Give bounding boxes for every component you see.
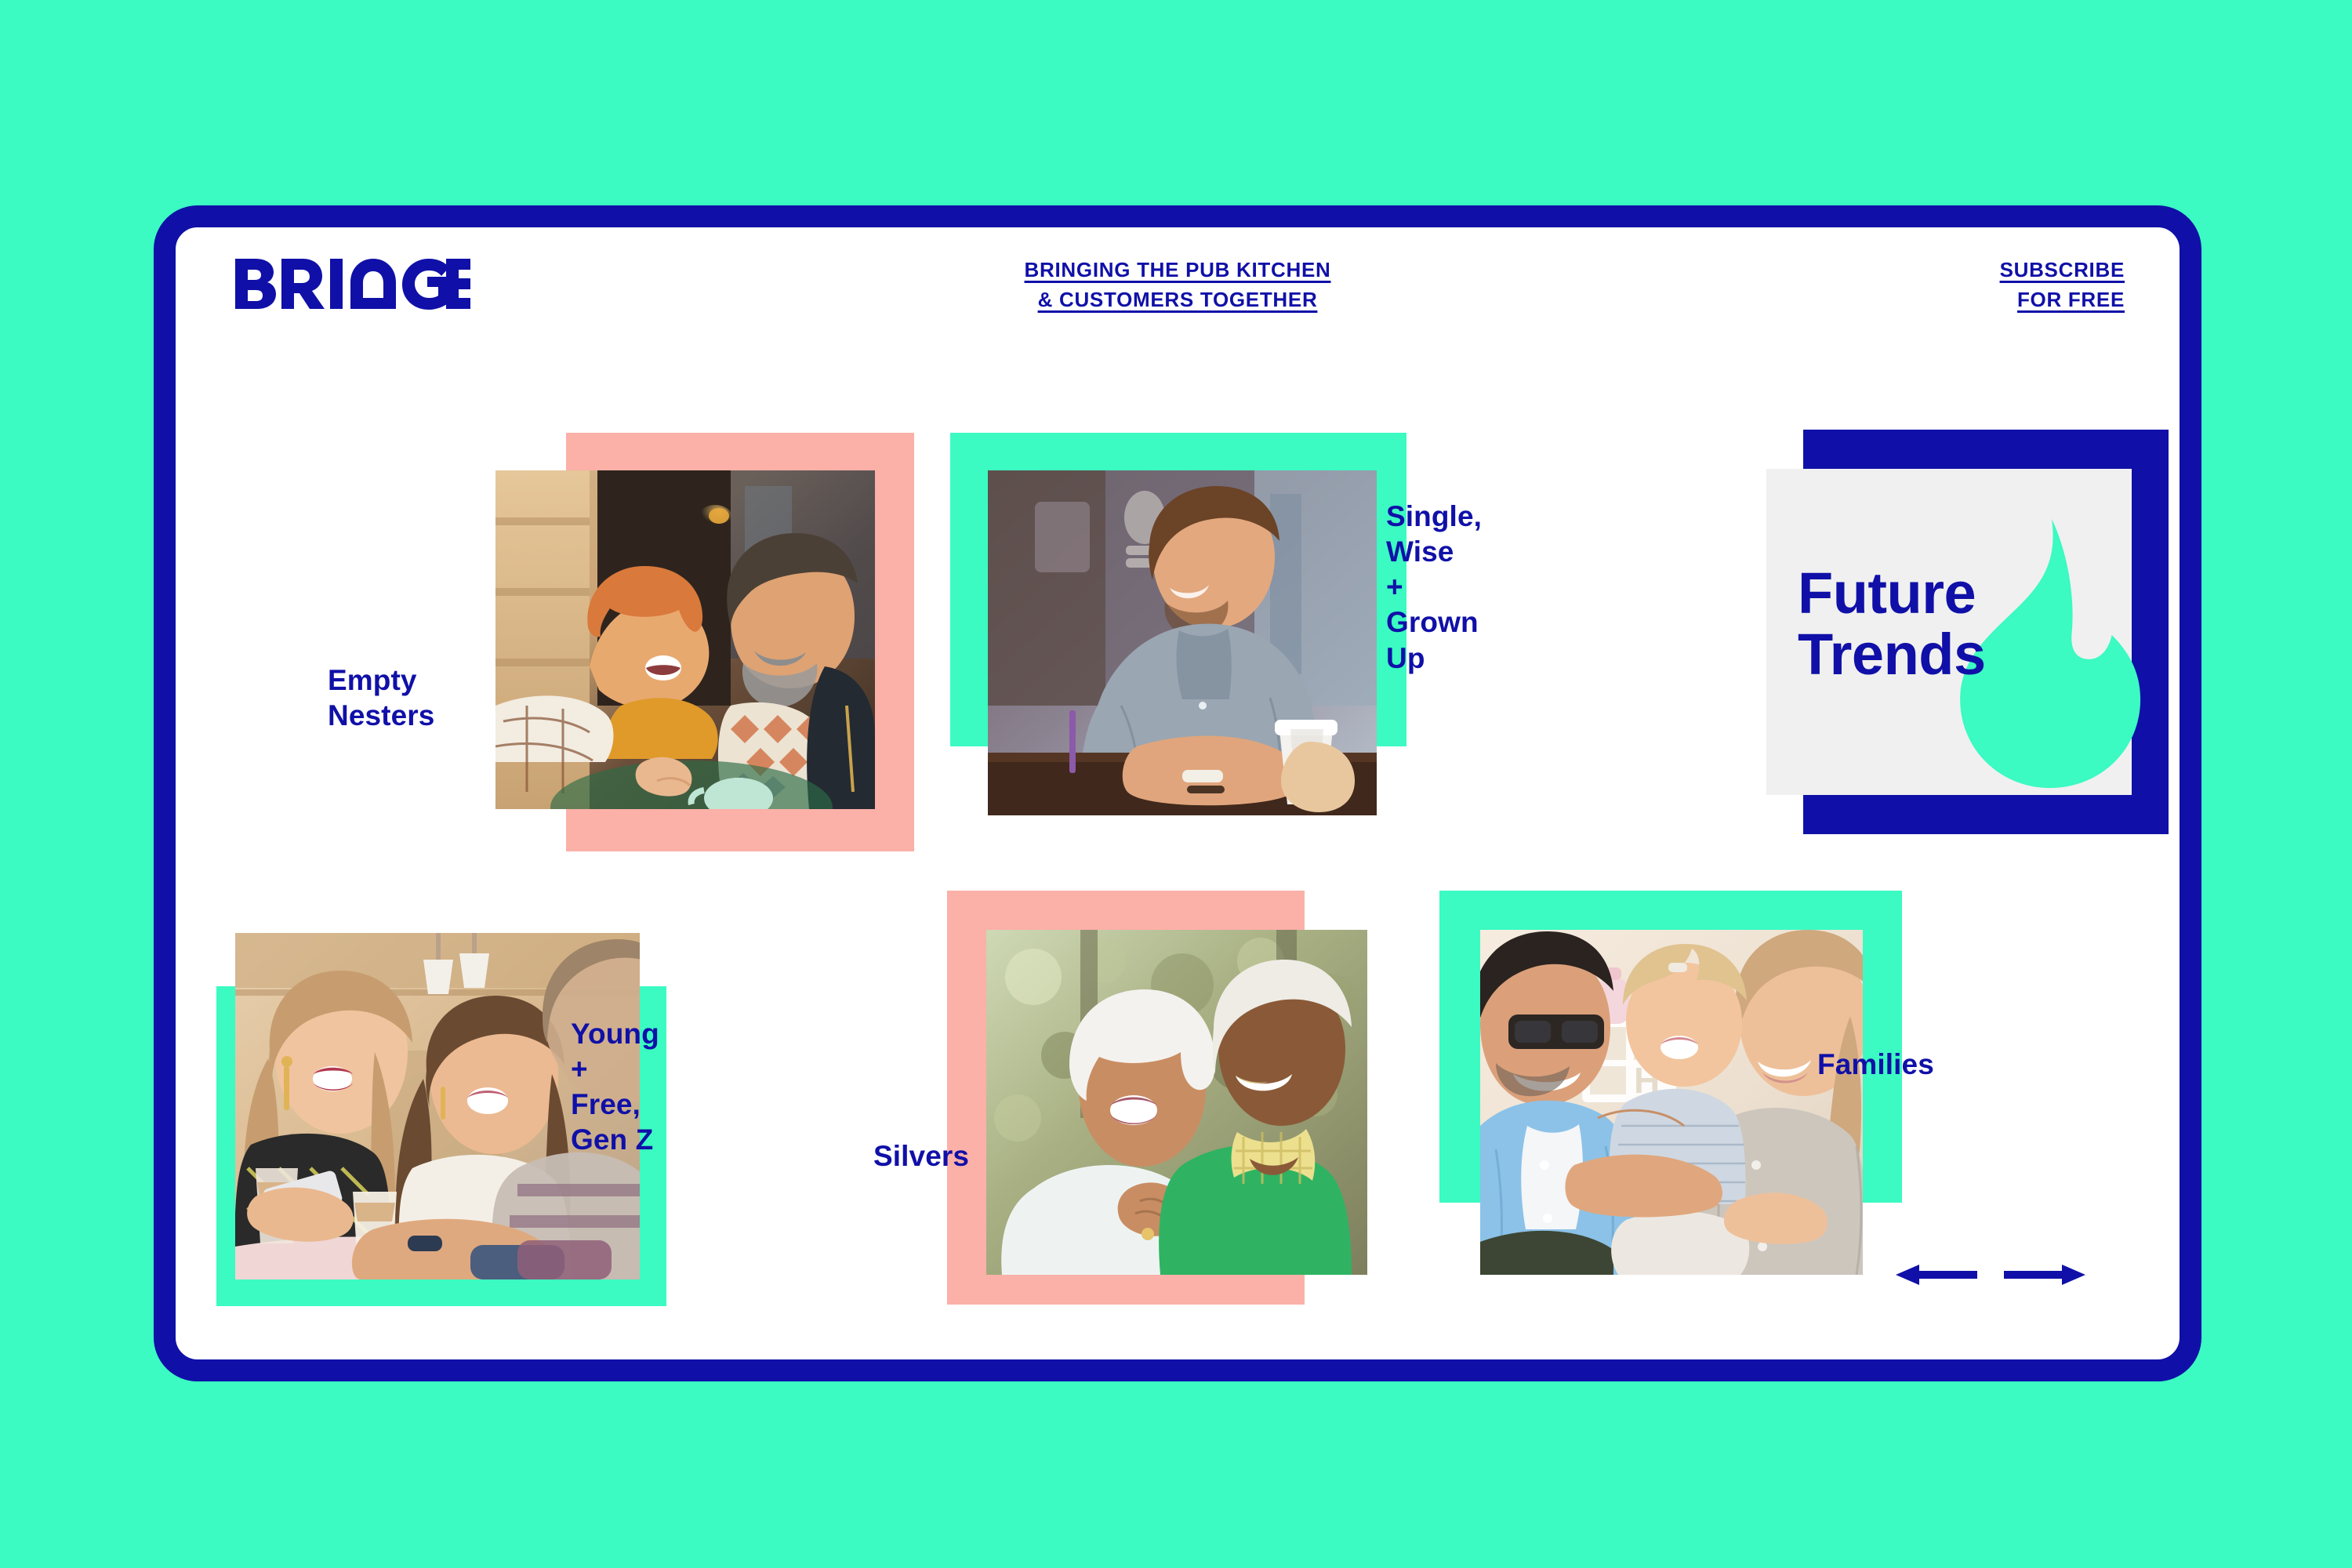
segment-photo-silvers xyxy=(986,930,1367,1275)
subscribe-line-2: FOR FREE xyxy=(2000,285,2125,315)
segment-label-empty-nesters: Empty Nesters xyxy=(328,662,434,733)
page-root: BRINGING THE PUB KITCHEN & CUSTOMERS TOG… xyxy=(0,0,2352,1568)
tagline-line-2: & CUSTOMERS TOGETHER xyxy=(1025,285,1331,315)
segment-label-families: Families xyxy=(1817,1047,1934,1082)
brand-logo[interactable] xyxy=(235,259,470,315)
arrow-right-icon[interactable] xyxy=(2004,1258,2085,1292)
segment-label-single-wise: Single, Wise + Grown Up xyxy=(1386,499,1482,676)
header-tagline: BRINGING THE PUB KITCHEN & CUSTOMERS TOG… xyxy=(1025,256,1331,314)
future-trends-title: Future Trends xyxy=(1798,563,2111,686)
future-trends-title-line-1: Future xyxy=(1798,563,2111,624)
subscribe-line-1: SUBSCRIBE xyxy=(2000,256,2125,285)
bridge-arch-logo-icon xyxy=(235,259,470,315)
segment-photo-families: H xyxy=(1480,930,1863,1275)
segment-label-silvers: Silvers xyxy=(873,1138,969,1174)
carousel-pagination xyxy=(1896,1258,2085,1292)
future-trends-title-line-2: Trends xyxy=(1798,624,2111,685)
tagline-line-1: BRINGING THE PUB KITCHEN xyxy=(1025,256,1331,285)
subscribe-link[interactable]: SUBSCRIBE FOR FREE xyxy=(2000,256,2125,314)
segment-photo-single-wise xyxy=(988,470,1377,815)
arrow-left-icon[interactable] xyxy=(1896,1258,1977,1292)
segment-photo-empty-nesters xyxy=(495,470,875,809)
segment-label-young-free: Young + Free, Gen Z xyxy=(571,1016,659,1158)
